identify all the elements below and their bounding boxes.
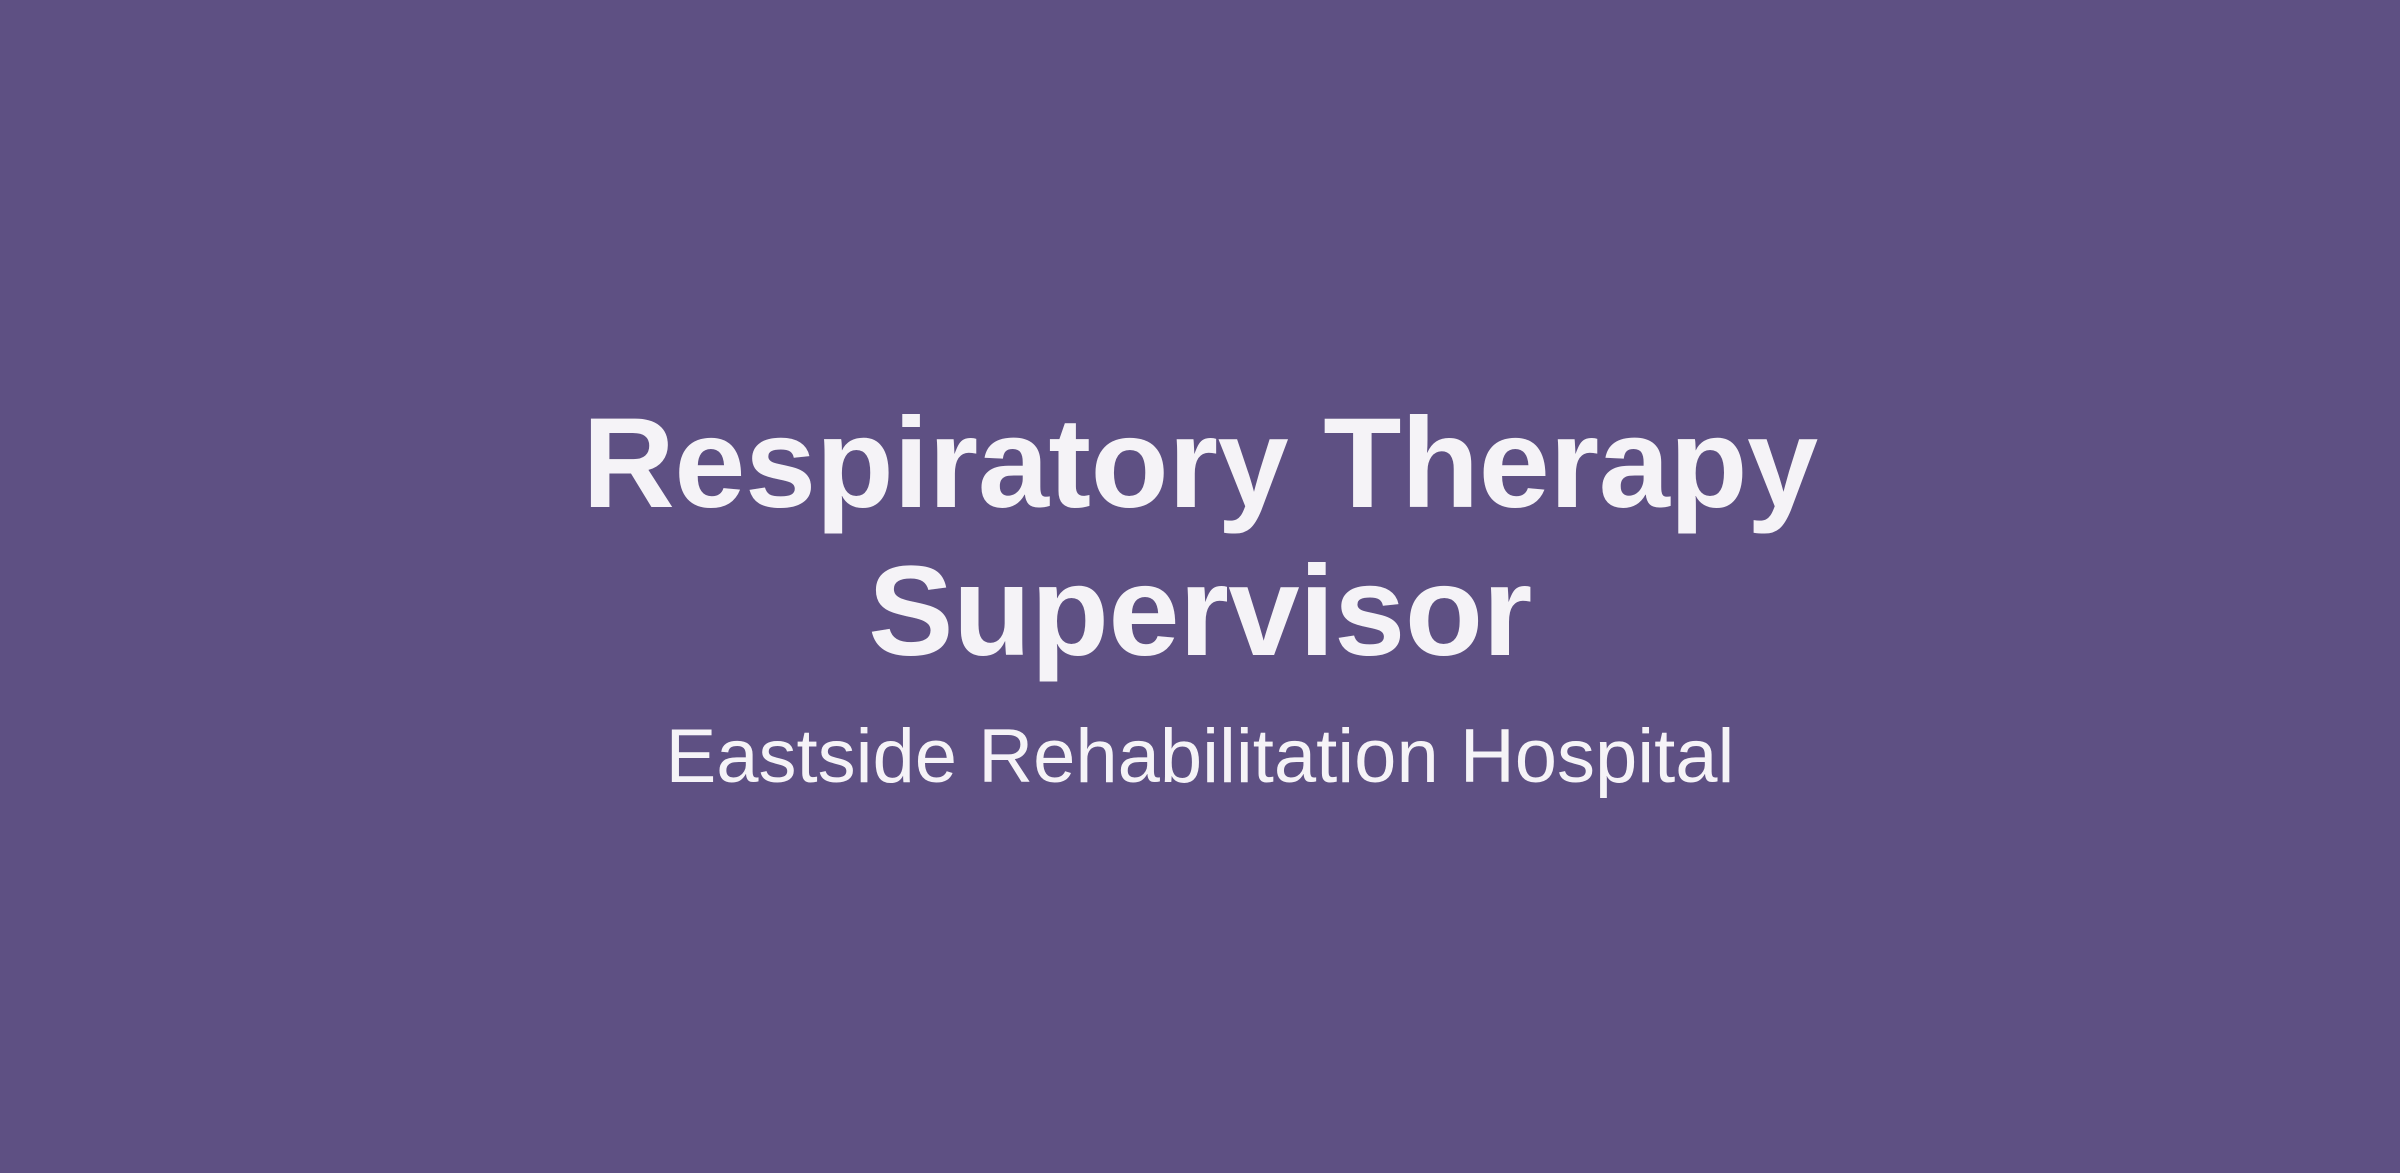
page-title: Respiratory Therapy Supervisor bbox=[580, 390, 1820, 687]
organization-name: Eastside Rehabilitation Hospital bbox=[666, 709, 1735, 804]
card-content: Respiratory Therapy Supervisor Eastside … bbox=[580, 390, 1820, 804]
job-posting-card: Respiratory Therapy Supervisor Eastside … bbox=[0, 0, 2400, 1173]
